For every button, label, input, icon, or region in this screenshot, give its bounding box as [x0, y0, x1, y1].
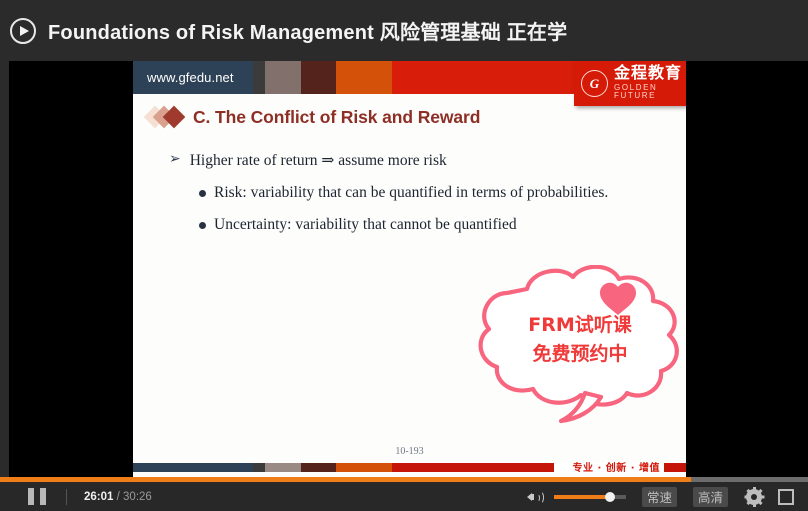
bullet-text: Risk: variability that can be quantified…	[214, 183, 608, 203]
total-duration: 30:26	[123, 491, 152, 503]
volume-knob[interactable]	[605, 492, 615, 502]
diamond-bullet-icon	[147, 105, 193, 129]
time-display: 26:01 / 30:26	[84, 491, 152, 503]
current-time: 26:01	[84, 491, 113, 503]
promo-line-1: FRM试听课	[469, 311, 686, 340]
pause-icon[interactable]	[28, 488, 46, 505]
botbar-swatch-3	[265, 463, 301, 472]
page-title: Foundations of Risk Management 风险管理基础 正在…	[48, 16, 567, 45]
logo-name-cn: 金程教育	[614, 66, 686, 83]
botbar-swatch-2	[253, 463, 265, 472]
botbar-swatch-5	[336, 463, 392, 472]
bullet-text: Uncertainty: variability that cannot be …	[214, 215, 517, 235]
topbar-swatch-2	[265, 61, 301, 94]
player-controls: 26:01 / 30:26 常速 高清	[0, 482, 808, 511]
dot-bullet-icon	[199, 190, 206, 197]
slide-title-row: C. The Conflict of Risk and Reward	[147, 105, 480, 129]
quality-button[interactable]: 高清	[693, 487, 728, 507]
gear-icon[interactable]	[746, 489, 762, 505]
slide-heading: C. The Conflict of Risk and Reward	[193, 107, 480, 128]
dot-bullet-icon	[199, 222, 206, 229]
fullscreen-icon[interactable]	[778, 489, 794, 505]
bullet-item: Risk: variability that can be quantified…	[199, 183, 629, 203]
slide-page-number: 10-193	[133, 446, 686, 457]
brand-logo: G 金程教育 GOLDEN FUTURE	[574, 61, 686, 106]
botbar-swatch-4	[301, 463, 336, 472]
bullet-item: Uncertainty: variability that cannot be …	[199, 215, 629, 235]
logo-text: 金程教育 GOLDEN FUTURE	[614, 66, 686, 101]
botbar-swatch-1	[133, 463, 253, 472]
time-separator: /	[117, 491, 120, 503]
video-player-app: Foundations of Risk Management 风险管理基础 正在…	[0, 0, 808, 511]
slide-url-block: www.gfedu.net	[133, 61, 253, 94]
bullet-item: ➢ Higher rate of return ⇒ assume more ri…	[169, 151, 629, 170]
playback-speed-button[interactable]: 常速	[642, 487, 677, 507]
slide-bullet-list: ➢ Higher rate of return ⇒ assume more ri…	[169, 151, 629, 246]
arrow-bullet-icon: ➢	[169, 151, 181, 170]
bullet-text: Higher rate of return ⇒ assume more risk	[190, 151, 447, 170]
logo-name-en: GOLDEN FUTURE	[614, 84, 686, 101]
titlebar: Foundations of Risk Management 风险管理基础 正在…	[0, 0, 808, 61]
play-circle-icon	[10, 18, 36, 44]
botbar-swatch-8	[664, 463, 686, 472]
slide-slogan: 专业 · 创新 · 增值	[572, 459, 660, 474]
control-divider	[66, 489, 67, 505]
volume-fill	[554, 495, 610, 499]
logo-mark-letter: G	[590, 77, 599, 90]
volume-slider[interactable]	[554, 495, 626, 499]
botbar-swatch-6	[392, 463, 554, 472]
promo-speech-bubble: FRM试听课 免费预约中	[469, 265, 686, 425]
promo-text: FRM试听课 免费预约中	[469, 311, 686, 368]
topbar-swatch-1	[253, 61, 265, 94]
volume-icon[interactable]	[527, 489, 543, 505]
topbar-swatch-3	[301, 61, 336, 94]
topbar-swatch-4	[336, 61, 392, 94]
promo-line-2: 免费预约中	[469, 340, 686, 369]
slide-content: www.gfedu.net G 金程教育 GOLDEN FUTURE	[133, 61, 686, 477]
slide-url-text: www.gfedu.net	[147, 70, 234, 85]
logo-seal-icon: G	[581, 70, 608, 97]
video-stage[interactable]: www.gfedu.net G 金程教育 GOLDEN FUTURE	[9, 61, 808, 477]
